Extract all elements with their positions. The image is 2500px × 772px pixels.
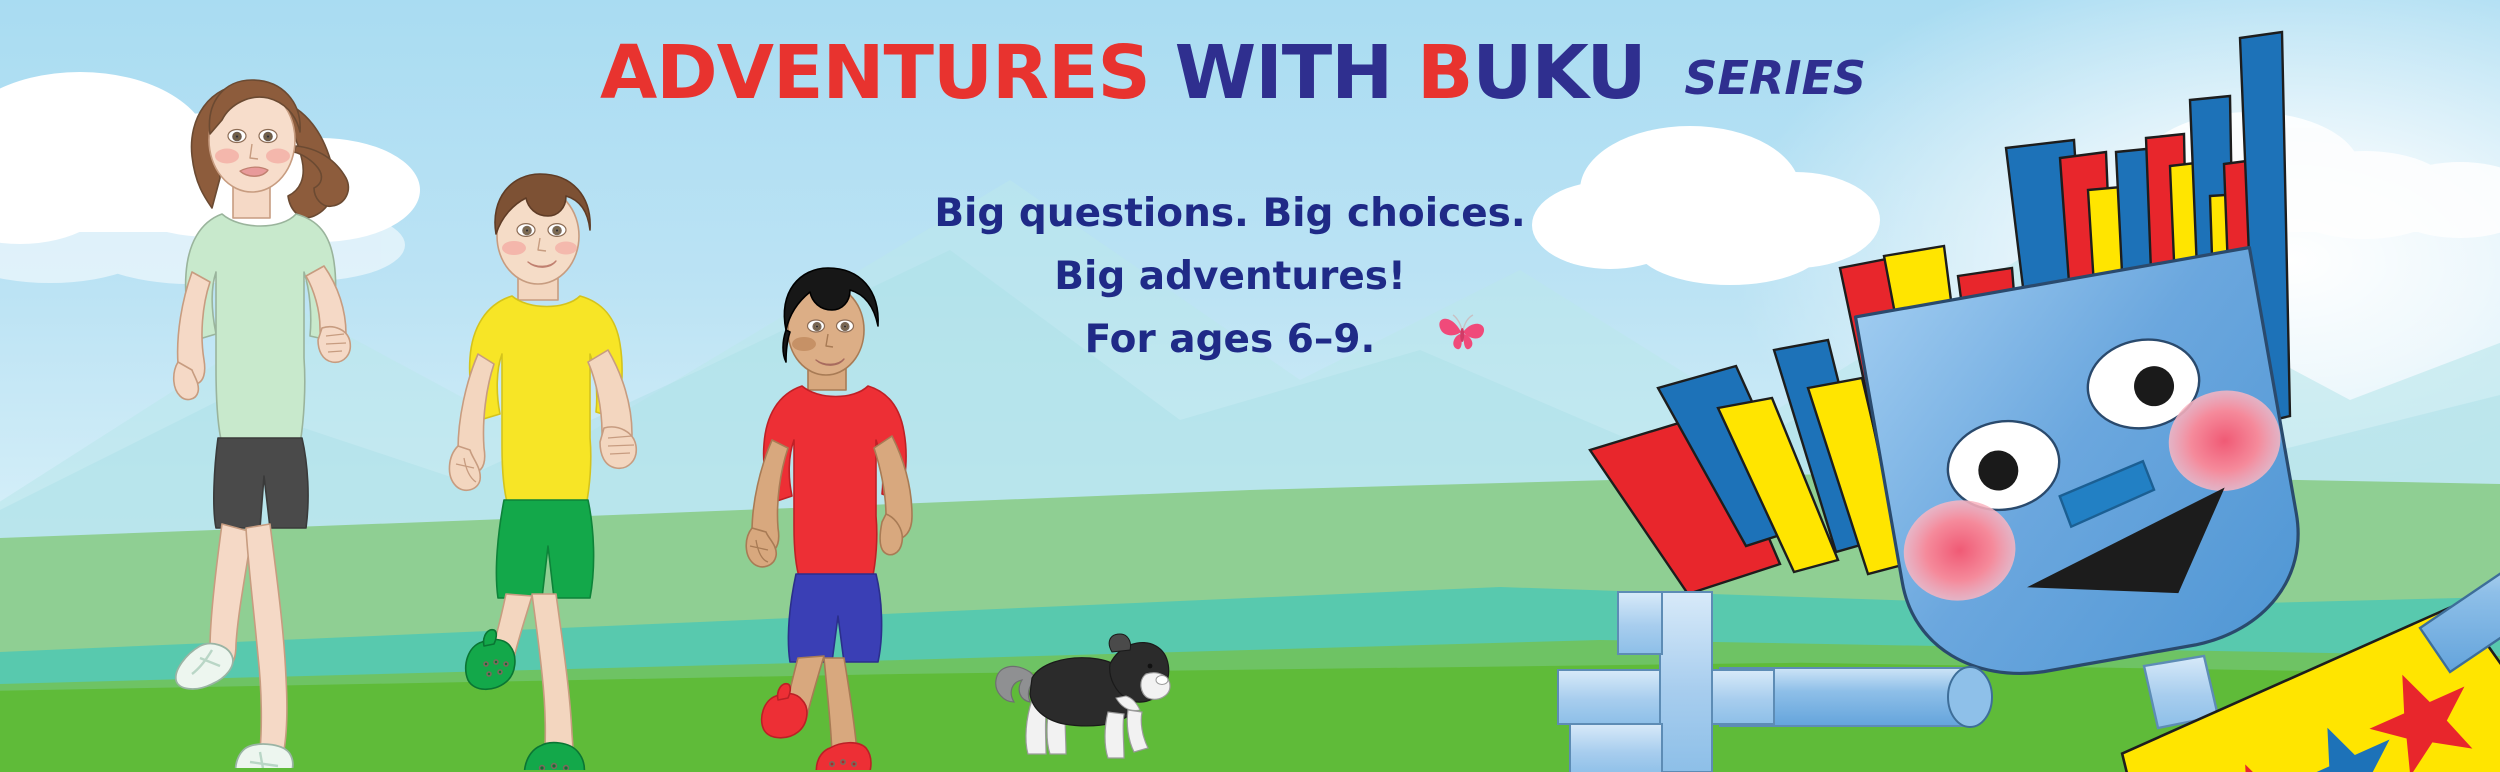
title-word-adventures: ADVENTURES: [600, 30, 1150, 116]
butterfly-icon: [1434, 306, 1490, 354]
buku-series-banner: ADVENTURES WITH BUKU SERIES Big question…: [0, 0, 2500, 772]
robot-buku-icon: [1540, 0, 2500, 772]
subtitle-line-1: Big questions. Big choices.: [880, 182, 1580, 245]
character-boy-red: [690, 250, 990, 770]
title-word-b: B: [1417, 30, 1472, 116]
character-boy-yellow: [390, 150, 690, 770]
character-girl-running: [100, 28, 400, 768]
dog-icon: [990, 630, 1180, 770]
title-word-with: WITH: [1175, 30, 1393, 116]
